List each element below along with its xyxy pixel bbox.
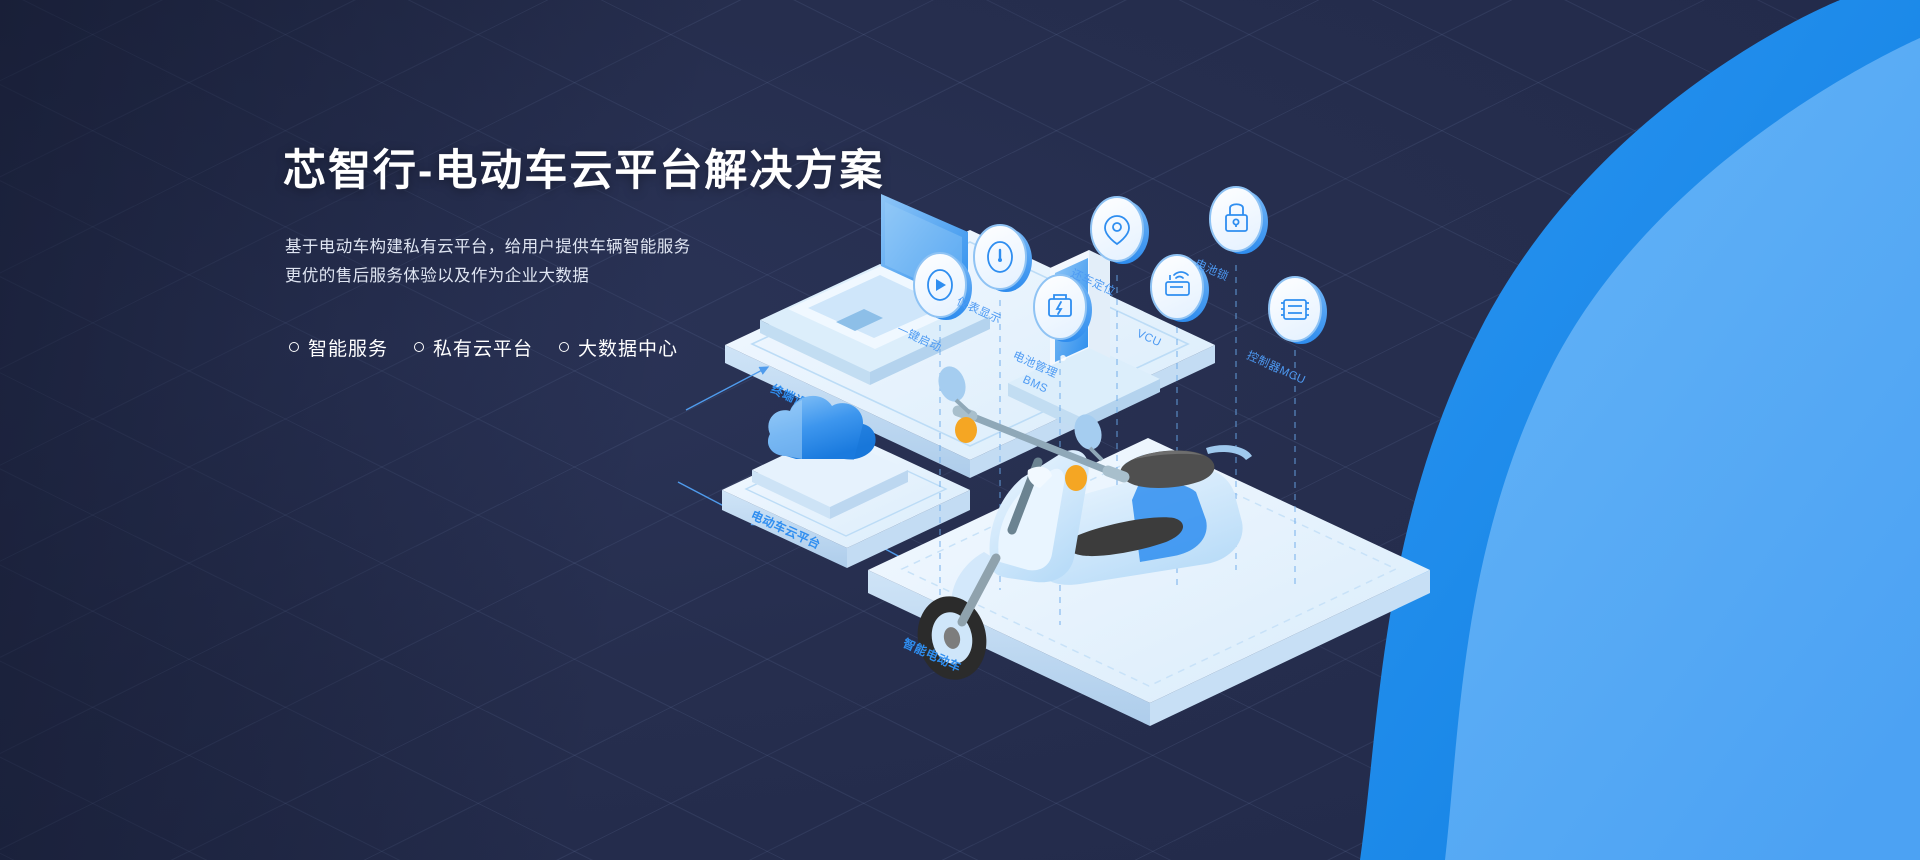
circle-outline-icon [289, 342, 299, 352]
circle-outline-icon [414, 342, 424, 352]
badge-label: 控制器MCU [1245, 348, 1308, 387]
feature-badge-battery-lock[interactable]: 电池锁 [1193, 187, 1268, 284]
isometric-illustration: 终端设备 [640, 170, 1910, 860]
bullet-label: 私有云平台 [433, 334, 533, 361]
bullet-item-private-cloud[interactable]: 私有云平台 [414, 334, 533, 361]
hero-banner: 芯智行-电动车云平台解决方案 基于电动车构建私有云平台，给用户提供车辆智能服务 … [0, 0, 1920, 860]
bullet-label: 智能服务 [308, 334, 388, 361]
feature-badge-controller-mcu[interactable]: 控制器MCU [1245, 277, 1327, 387]
bullet-item-smart-service[interactable]: 智能服务 [289, 334, 388, 361]
feature-badge-return-locating[interactable]: 还车定位 [1069, 197, 1149, 298]
circle-outline-icon [559, 342, 569, 352]
